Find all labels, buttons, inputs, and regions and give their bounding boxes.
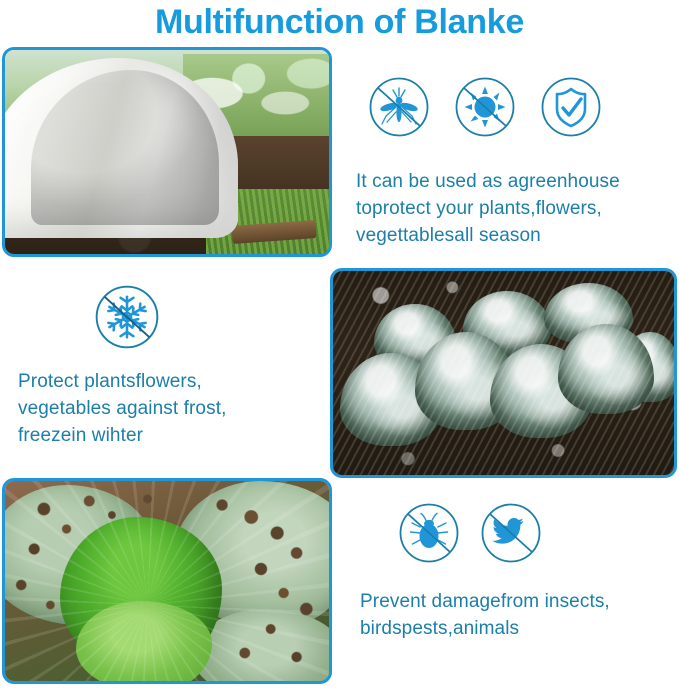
caption-line: Protect plantsflowers, bbox=[18, 368, 328, 395]
caption-line: vegetables against frost, bbox=[18, 395, 328, 422]
photo-frost-overlay bbox=[333, 271, 674, 475]
caption-line: Prevent damagefrom insects, bbox=[360, 588, 678, 615]
caption-line: freezein wihter bbox=[18, 422, 328, 449]
shield-check-icon bbox=[540, 76, 602, 138]
no-mosquito-icon bbox=[368, 76, 430, 138]
caption-line: vegettablesall season bbox=[356, 222, 678, 249]
photo-frosted-cabbages bbox=[330, 268, 677, 478]
caption-pests: Prevent damagefrom insects, birdspests,a… bbox=[360, 588, 678, 642]
caption-frost: Protect plantsflowers, vegetables agains… bbox=[18, 368, 328, 449]
photo-pest-damaged-cabbage bbox=[2, 478, 332, 684]
caption-greenhouse: It can be used as agreenhouse toprotect … bbox=[356, 168, 678, 249]
photo-greenhouse-tunnel bbox=[2, 47, 332, 257]
icon-row-greenhouse bbox=[368, 76, 602, 138]
no-snowflake-icon bbox=[94, 284, 160, 350]
caption-line: toprotect your plants,flowers, bbox=[356, 195, 678, 222]
page-title: Multifunction of Blanke bbox=[0, 0, 679, 44]
no-beetle-icon bbox=[398, 502, 460, 564]
infographic-page: Multifunction of Blanke bbox=[0, 0, 679, 688]
no-sun-icon bbox=[454, 76, 516, 138]
no-bird-icon bbox=[480, 502, 542, 564]
caption-line: It can be used as agreenhouse bbox=[356, 168, 678, 195]
photo-insect-holes bbox=[5, 481, 329, 681]
caption-line: birdspests,animals bbox=[360, 615, 678, 642]
icon-row-frost bbox=[94, 284, 160, 350]
icon-row-pests bbox=[398, 502, 542, 564]
